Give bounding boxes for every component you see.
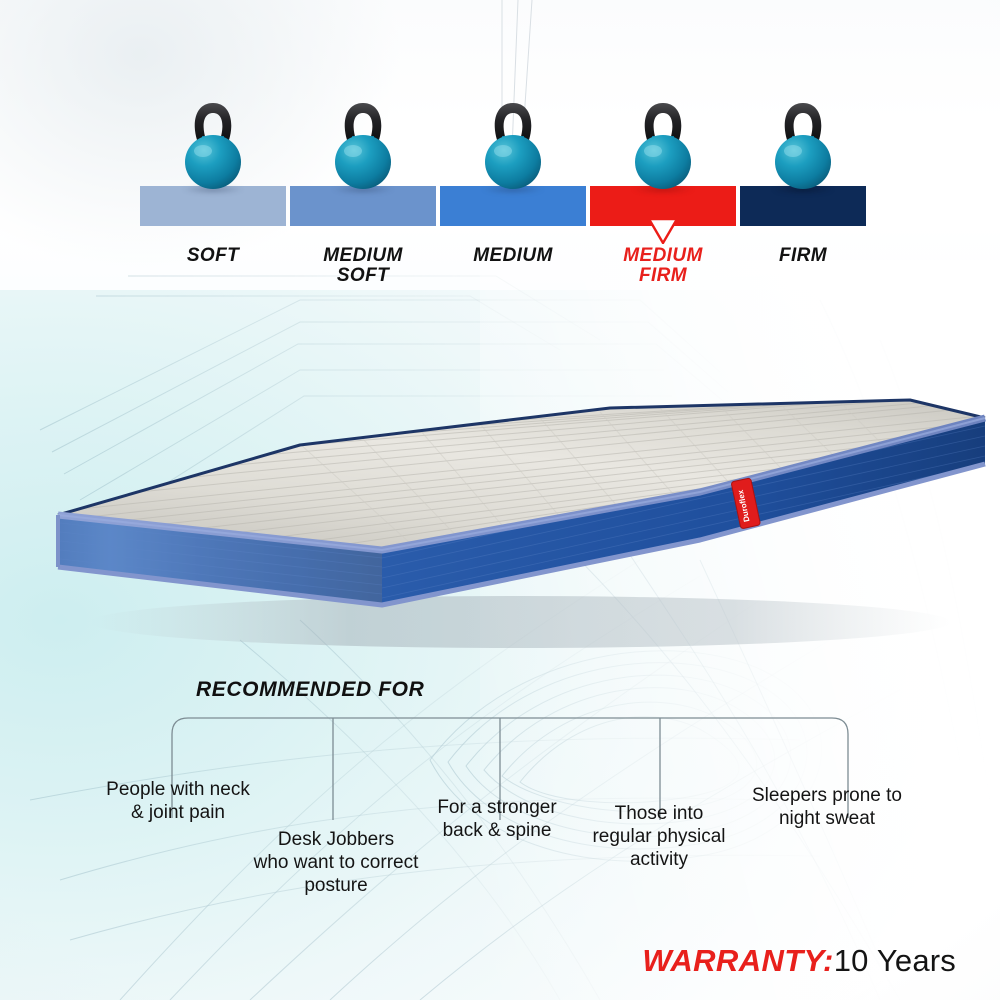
firmness-segment-firm[interactable]	[740, 186, 866, 226]
firmness-label-medium-firm: MEDIUM FIRM	[590, 246, 736, 286]
kettlebell-icon	[176, 94, 250, 194]
firmness-segment-soft[interactable]	[140, 186, 286, 226]
warranty-label: WARRANTY:	[642, 943, 833, 978]
firmness-label-medium-soft: MEDIUM SOFT	[290, 246, 436, 286]
recommended-item-1: People with neck & joint pain	[78, 778, 278, 824]
recommended-item-4: Those into regular physical activity	[578, 802, 740, 871]
kettlebell-icon	[626, 94, 700, 194]
recommended-item-3: For a stronger back & spine	[410, 796, 584, 842]
firmness-segment-medium[interactable]	[440, 186, 586, 226]
recommended-for-heading: RECOMMENDED FOR	[196, 678, 424, 702]
kettlebell-icon	[476, 94, 550, 194]
firmness-scale	[140, 186, 866, 226]
firmness-segment-medium-soft[interactable]	[290, 186, 436, 226]
firmness-label-firm: FIRM	[740, 246, 866, 266]
firmness-label-soft: SOFT	[140, 246, 286, 266]
infographic-canvas: SOFT MEDIUM SOFT MEDIUM MEDIUM FIRM FIRM	[0, 0, 1000, 1000]
mattress-product-image: Duroflex	[0, 360, 1000, 670]
warranty-value: 10 Years	[834, 943, 956, 978]
kettlebell-icon	[766, 94, 840, 194]
recommended-item-5: Sleepers prone to night sweat	[732, 784, 922, 830]
firmness-label-medium: MEDIUM	[440, 246, 586, 266]
firmness-segment-medium-firm[interactable]	[590, 186, 736, 226]
warranty-line: WARRANTY:10 Years	[642, 942, 956, 980]
selected-firmness-marker	[646, 218, 680, 244]
kettlebell-icon	[326, 94, 400, 194]
